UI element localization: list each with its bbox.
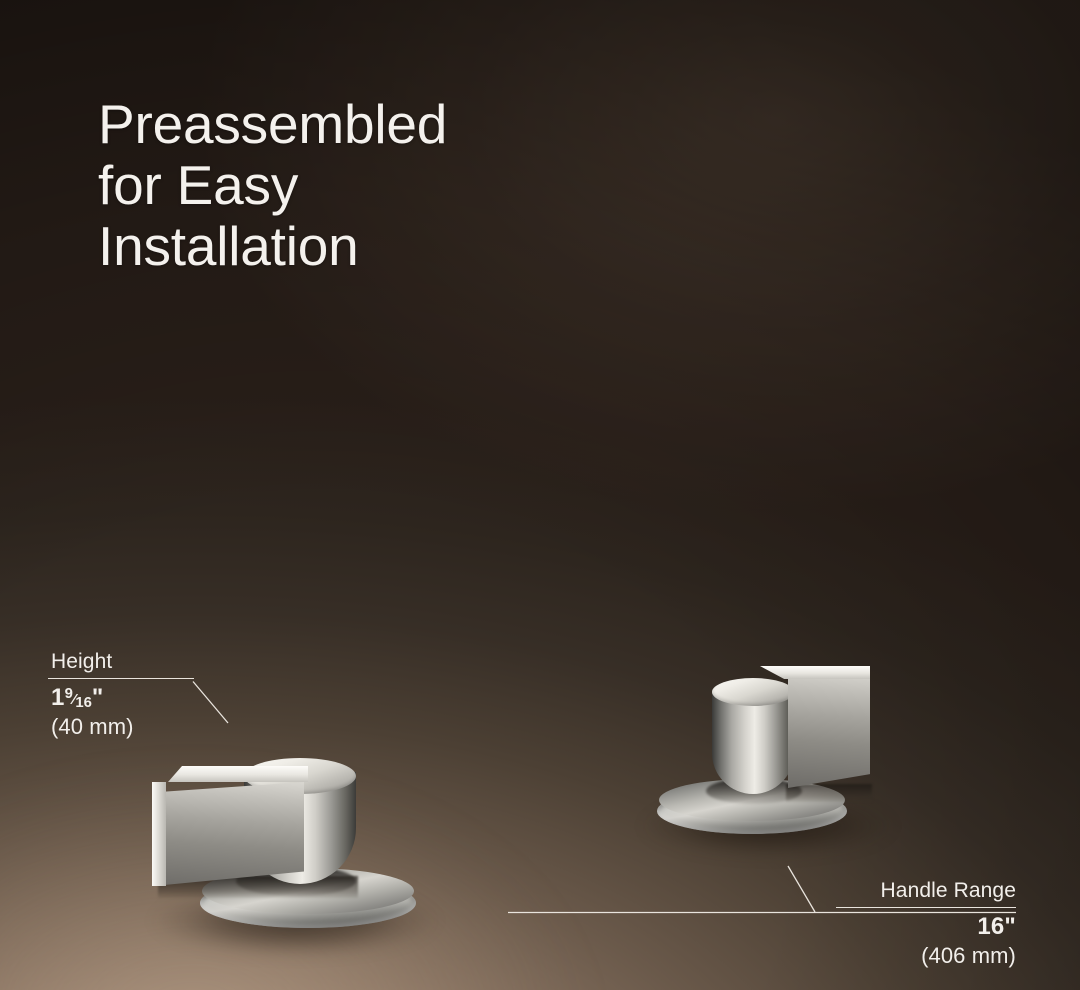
height-rule: [48, 678, 194, 679]
height-metric: (40 mm): [48, 714, 194, 740]
height-value: 19⁄16": [48, 684, 194, 712]
callout-handle-range: Handle Range 16" (406 mm): [836, 879, 1016, 969]
handle-range-metric: (406 mm): [836, 943, 1016, 969]
height-value-fraction: 9⁄16: [65, 693, 92, 709]
handle-range-rule: [836, 907, 1016, 908]
callout-height: Height 19⁄16" (40 mm): [48, 650, 194, 740]
product-feature-image: Preassembled for Easy Installation: [0, 0, 1080, 990]
left-paddle-end-edge: [152, 782, 166, 886]
height-fraction-denominator: 16: [75, 695, 92, 711]
right-paddle-face: [788, 672, 870, 788]
height-fraction-numerator: 9: [65, 686, 73, 702]
left-paddle-top-edge: [168, 766, 308, 782]
handle-range-value: 16": [836, 913, 1016, 941]
height-value-unit: ": [92, 684, 104, 711]
height-value-whole: 1: [51, 684, 65, 711]
height-caption: Height: [48, 650, 194, 674]
headline: Preassembled for Easy Installation: [98, 94, 447, 277]
right-hub-cap: [712, 678, 794, 706]
left-paddle-face: [154, 782, 304, 886]
handle-range-caption: Handle Range: [836, 879, 1016, 903]
